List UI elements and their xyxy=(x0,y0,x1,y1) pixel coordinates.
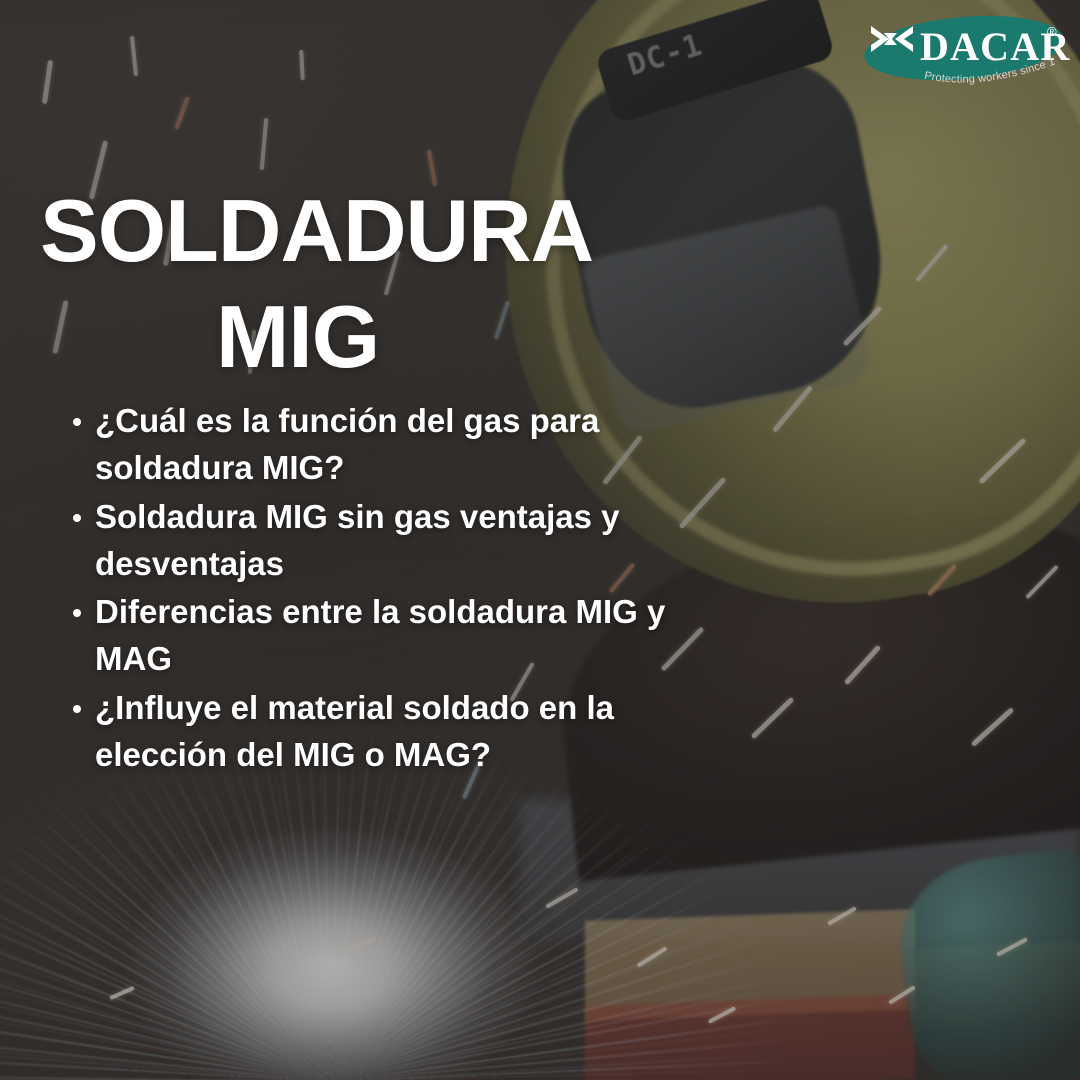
list-item: ¿Influye el material soldado en la elecc… xyxy=(68,685,708,779)
list-item: Soldadura MIG sin gas ventajas y desvent… xyxy=(68,494,708,588)
dacar-logo[interactable]: DACAR ® Protecting workers since 1992 xyxy=(860,8,1072,94)
logo-registered-mark: ® xyxy=(1047,24,1057,39)
social-media-graphic: DC-1 xyxy=(0,0,1080,1080)
list-item: ¿Cuál es la función del gas para soldadu… xyxy=(68,398,708,492)
list-item: Diferencias entre la soldadura MIG y MAG xyxy=(68,589,708,683)
title-line-1: SOLDADURA xyxy=(40,186,760,276)
title-line-2: MIG xyxy=(40,292,760,382)
page-title: SOLDADURA MIG xyxy=(40,186,760,382)
topic-list: ¿Cuál es la función del gas para soldadu… xyxy=(68,398,708,781)
